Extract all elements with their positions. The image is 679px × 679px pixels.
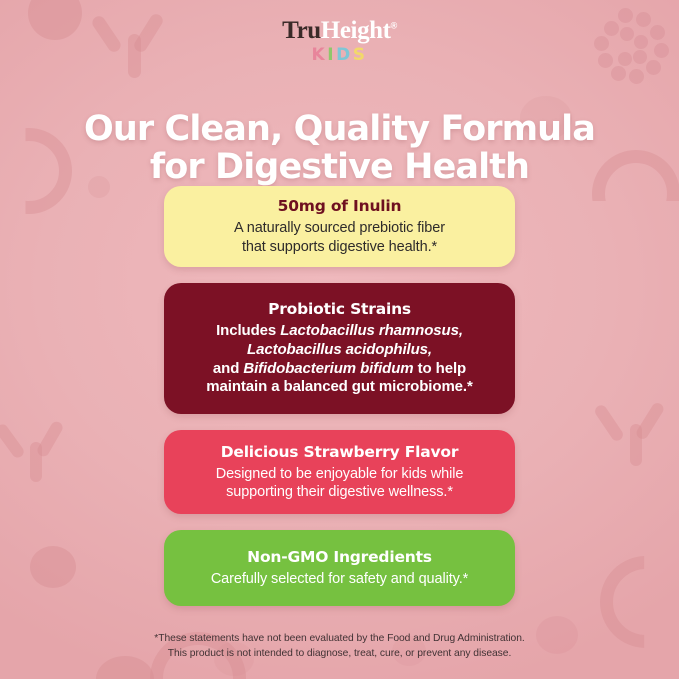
feature-card-flavor: Delicious Strawberry Flavor Designed to …	[164, 430, 515, 514]
brand-kids-wordmark: KIDS	[0, 47, 679, 64]
kids-letter-d: D	[336, 47, 353, 64]
page-title: Our Clean, Quality Formula for Digestive…	[40, 111, 639, 186]
page-title-line2: for Digestive Health	[40, 149, 639, 186]
feature-card-title: Delicious Strawberry Flavor	[181, 443, 498, 461]
wordmark-tru: Tru	[282, 17, 321, 44]
feature-card-probiotic: Probiotic Strains Includes Lactobacillus…	[164, 283, 515, 414]
feature-card-body: Carefully selected for safety and qualit…	[181, 570, 498, 588]
disclaimer-line2: This product is not intended to diagnose…	[60, 647, 619, 662]
wordmark-height: Height	[321, 17, 391, 44]
brand-wordmark: TruHeight®	[282, 18, 397, 43]
kids-letter-k: K	[312, 47, 328, 64]
registered-trademark-icon: ®	[391, 21, 397, 31]
promo-infographic: TruHeight® KIDS Our Clean, Quality Formu…	[0, 0, 679, 679]
feature-card-inulin: 50mg of Inulin A naturally sourced prebi…	[164, 186, 515, 267]
antibody-y-icon	[600, 398, 679, 468]
feature-card-title: 50mg of Inulin	[181, 197, 498, 215]
feature-card-nongmo: Non-GMO Ingredients Carefully selected f…	[164, 530, 515, 606]
fda-disclaimer: *These statements have not been evaluate…	[60, 632, 619, 661]
antibody-y-icon	[2, 418, 82, 484]
disclaimer-line1: *These statements have not been evaluate…	[60, 632, 619, 647]
feature-card-body: Designed to be enjoyable for kids whiles…	[181, 465, 498, 502]
blob-shape	[30, 546, 76, 588]
page-title-line1: Our Clean, Quality Formula	[84, 109, 595, 149]
feature-card-body: A naturally sourced prebiotic fiberthat …	[181, 219, 498, 256]
feature-card-body: Includes Lactobacillus rhamnosus,Lactoba…	[181, 322, 498, 398]
feature-card-title: Probiotic Strains	[181, 300, 498, 318]
feature-card-title: Non-GMO Ingredients	[181, 548, 498, 566]
kids-letter-i: I	[327, 47, 336, 64]
kids-letter-s: S	[353, 47, 368, 64]
brand-logo: TruHeight® KIDS	[0, 18, 679, 64]
